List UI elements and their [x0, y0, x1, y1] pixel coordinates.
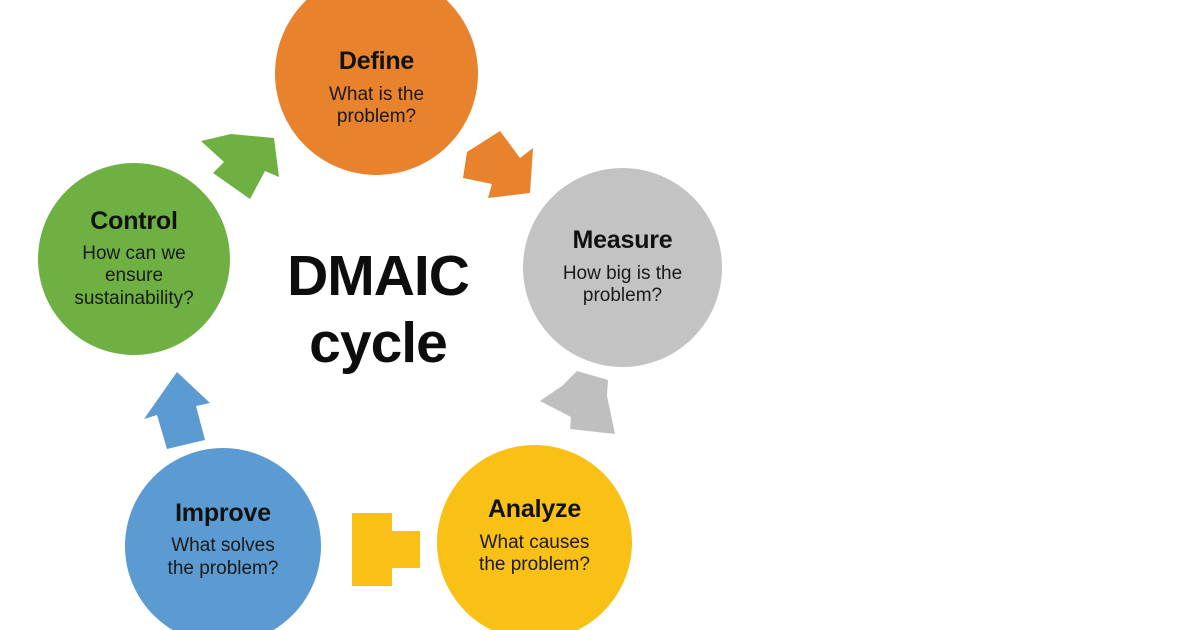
node-define[interactable]: Define What is the problem? [275, 0, 478, 175]
arrow-measure-to-analyze [540, 371, 615, 434]
node-measure[interactable]: Measure How big is the problem? [523, 168, 722, 367]
node-analyze-label: Analyze [488, 496, 581, 522]
node-analyze-question: What causes the problem? [463, 532, 606, 577]
node-measure-label: Measure [572, 227, 672, 253]
node-analyze[interactable]: Analyze What causes the problem? [437, 445, 632, 630]
node-control-label: Control [90, 208, 177, 234]
arrow-define-to-measure [463, 131, 533, 198]
node-improve-question: What solves the problem? [152, 535, 295, 580]
arrow-analyze-to-improve [352, 513, 420, 586]
node-improve-label: Improve [175, 500, 271, 526]
node-measure-question: How big is the problem? [547, 263, 698, 308]
node-define-label: Define [339, 48, 414, 74]
node-define-question: What is the problem? [313, 84, 440, 129]
arrow-control-to-define [201, 134, 279, 199]
node-improve[interactable]: Improve What solves the problem? [125, 448, 321, 630]
diagram-stage: Define What is the problem? Measure How … [0, 0, 1200, 630]
diagram-center-label: DMAIC cycle [258, 243, 498, 376]
node-control-question: How can we ensure sustainability? [58, 243, 209, 310]
arrow-improve-to-control [144, 372, 210, 449]
node-control[interactable]: Control How can we ensure sustainability… [38, 163, 230, 355]
dmaic-cycle-diagram: Define What is the problem? Measure How … [0, 0, 1200, 630]
